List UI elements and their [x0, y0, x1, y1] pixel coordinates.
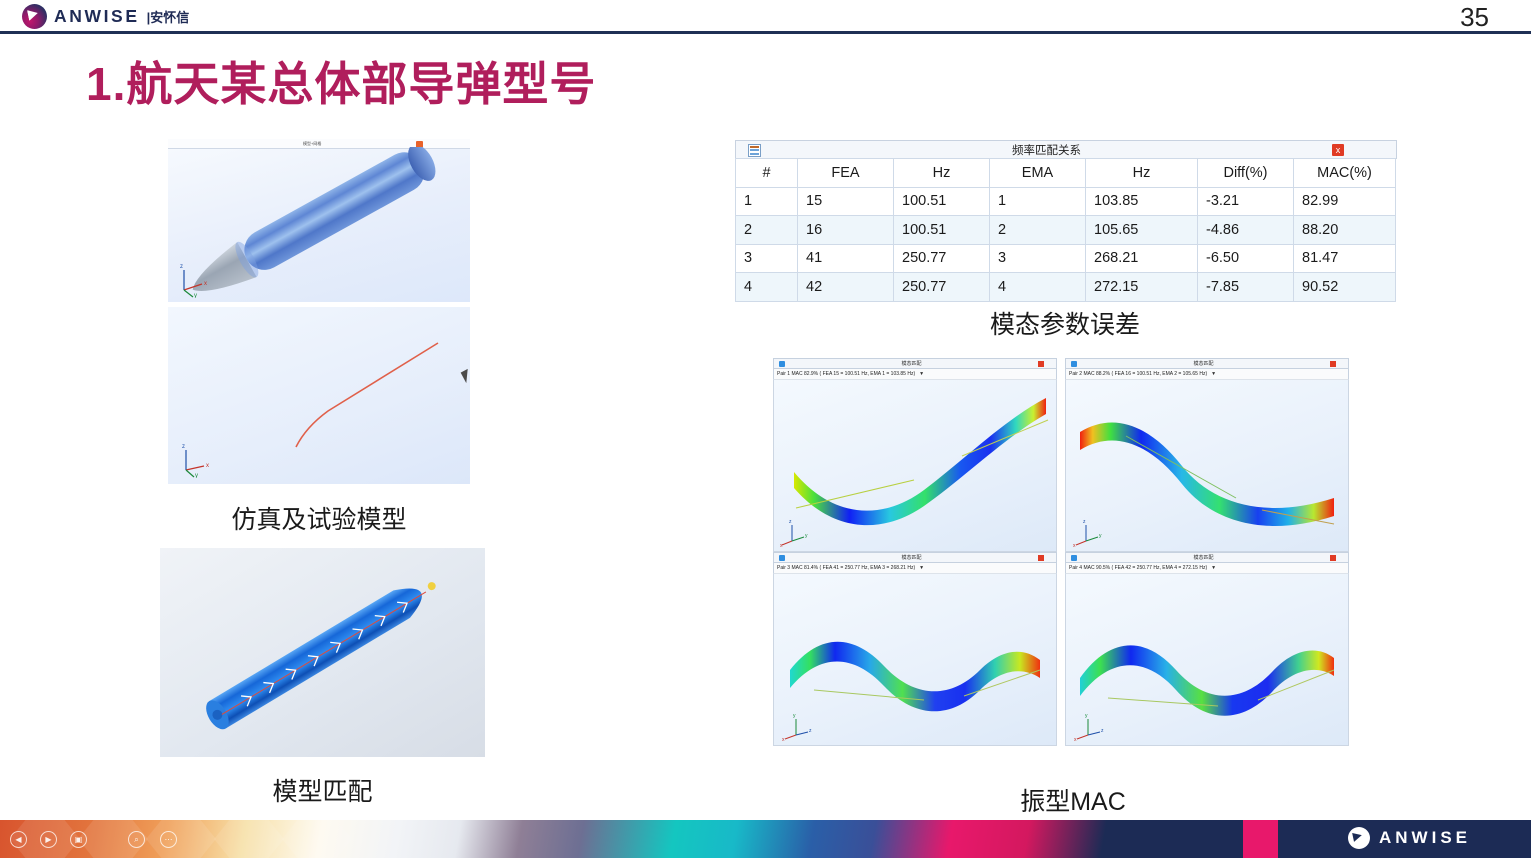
cell-ema: 2: [990, 216, 1086, 245]
mac-pair-selector-3[interactable]: Pair 3 MAC 81.4% ( FEA 41 = 250.77 Hz, E…: [773, 563, 1057, 574]
header-divider: [0, 31, 1531, 34]
table-window-titlebar: 频率匹配关系 x: [735, 140, 1397, 159]
cell-ema-hz: 268.21: [1086, 244, 1198, 273]
col-header-ema-hz: Hz: [1086, 159, 1198, 188]
cell-fea-hz: 100.51: [894, 216, 990, 245]
svg-text:x: x: [204, 281, 207, 287]
axis-triad-icon: z x y: [176, 438, 228, 478]
prev-slide-button[interactable]: ◀: [10, 831, 27, 848]
table-row[interactable]: 3 41 250.77 3 268.21 -6.50 81.47: [736, 244, 1396, 273]
chevron-down-icon: ▼: [919, 371, 924, 377]
col-header-diff: Diff(%): [1198, 159, 1294, 188]
cell-diff: -7.85: [1198, 273, 1294, 302]
svg-text:y: y: [793, 713, 796, 719]
col-header-index: #: [736, 159, 798, 188]
cell-index: 1: [736, 187, 798, 216]
svg-text:y: y: [194, 293, 197, 298]
mac-pair-label: Pair 1 MAC 82.9% ( FEA 15 = 100.51 Hz, E…: [777, 371, 915, 377]
mac-window-3: 模态匹配 Pair 3 MAC 81.4% ( FEA 41 = 250.77 …: [773, 552, 1057, 746]
footer-bar: ◀ ▶ ▣ ⌕ ⋯ ANWISE: [0, 820, 1531, 858]
chevron-down-icon: ▼: [1211, 565, 1216, 571]
mac-pair-selector-4[interactable]: Pair 4 MAC 90.5% ( FEA 42 = 250.77 Hz, E…: [1065, 563, 1349, 574]
spreadsheet-icon: [748, 144, 761, 157]
table-row[interactable]: 1 15 100.51 1 103.85 -3.21 82.99: [736, 187, 1396, 216]
axis-triad-icon: y x z: [1074, 707, 1122, 741]
cell-fea-hz: 250.77: [894, 273, 990, 302]
mac-window-titlebar-3: 模态匹配: [773, 552, 1057, 563]
svg-text:x: x: [1074, 737, 1077, 741]
mac-window-2: 模态匹配 Pair 2 MAC 88.2% ( FEA 16 = 100.51 …: [1065, 358, 1349, 552]
footer-brand-logo: ANWISE: [1348, 827, 1471, 849]
mode-shape-canvas-3: y x z: [773, 574, 1057, 746]
frequency-match-window: 频率匹配关系 x # FEA Hz EMA Hz Diff(%) MAC(%) …: [735, 140, 1395, 296]
mac-pair-label: Pair 3 MAC 81.4% ( FEA 41 = 250.77 Hz, E…: [777, 565, 915, 571]
cell-ema: 4: [990, 273, 1086, 302]
close-icon[interactable]: [1330, 361, 1336, 367]
close-icon[interactable]: [1038, 555, 1044, 561]
cell-fea-hz: 100.51: [894, 187, 990, 216]
cell-fea-hz: 250.77: [894, 244, 990, 273]
col-header-ema: EMA: [990, 159, 1086, 188]
cell-index: 2: [736, 216, 798, 245]
brand-name-cn: |安怀信: [147, 7, 190, 26]
chevron-down-icon: ▼: [919, 565, 924, 571]
cell-index: 3: [736, 244, 798, 273]
cell-mac: 90.52: [1294, 273, 1396, 302]
page-title: 1.航天某总体部导弹型号: [86, 59, 596, 110]
svg-text:y: y: [805, 533, 808, 539]
axis-triad-icon: z x y: [780, 513, 828, 547]
brand-name: ANWISE: [54, 8, 140, 26]
mac-window-4: 模态匹配 Pair 4 MAC 90.5% ( FEA 42 = 250.77 …: [1065, 552, 1349, 746]
mac-pair-selector-2[interactable]: Pair 2 MAC 88.2% ( FEA 16 = 100.51 Hz, E…: [1065, 369, 1349, 380]
cell-ema-hz: 272.15: [1086, 273, 1198, 302]
svg-text:y: y: [1099, 533, 1102, 539]
table-header-row: # FEA Hz EMA Hz Diff(%) MAC(%): [736, 159, 1396, 188]
col-header-mac: MAC(%): [1294, 159, 1396, 188]
more-options-button[interactable]: ⋯: [160, 831, 177, 848]
svg-text:z: z: [182, 444, 185, 450]
cell-ema-hz: 103.85: [1086, 187, 1198, 216]
cell-fea: 16: [798, 216, 894, 245]
svg-text:z: z: [809, 728, 812, 734]
cell-diff: -6.50: [1198, 244, 1294, 273]
next-slide-button[interactable]: ▶: [40, 831, 57, 848]
mac-pair-label: Pair 2 MAC 88.2% ( FEA 16 = 100.51 Hz, E…: [1069, 371, 1207, 377]
cell-diff: -3.21: [1198, 187, 1294, 216]
mac-window-title: 模态匹配: [785, 360, 1038, 367]
close-icon[interactable]: [1038, 361, 1044, 367]
caption-sim-test-model: 仿真及试验模型: [168, 500, 470, 536]
footer-brand-name: ANWISE: [1379, 828, 1471, 848]
cell-ema: 3: [990, 244, 1086, 273]
caption-modal-param-error: 模态参数误差: [735, 305, 1395, 341]
mac-window-titlebar-2: 模态匹配: [1065, 358, 1349, 369]
page-number: 35: [1460, 2, 1489, 33]
svg-text:x: x: [1073, 543, 1076, 547]
cell-mac: 81.47: [1294, 244, 1396, 273]
mac-window-title: 模态匹配: [1077, 554, 1330, 561]
svg-text:x: x: [782, 737, 785, 741]
cell-index: 4: [736, 273, 798, 302]
mode-shape-canvas-1: z x y: [773, 380, 1057, 552]
mac-window-title: 模态匹配: [1077, 360, 1330, 367]
col-header-fea-hz: Hz: [894, 159, 990, 188]
cell-fea: 42: [798, 273, 894, 302]
caption-mode-shape-mac: 振型MAC: [773, 782, 1373, 818]
anwise-logo-icon: [1348, 827, 1370, 849]
close-icon[interactable]: [1330, 555, 1336, 561]
cell-mac: 88.20: [1294, 216, 1396, 245]
svg-text:z: z: [789, 519, 792, 525]
model-match-viewport: [160, 548, 485, 757]
mac-pair-label: Pair 4 MAC 90.5% ( FEA 42 = 250.77 Hz, E…: [1069, 565, 1207, 571]
axis-triad-icon: z x y: [174, 258, 226, 298]
table-row[interactable]: 2 16 100.51 2 105.65 -4.86 88.20: [736, 216, 1396, 245]
cell-fea: 41: [798, 244, 894, 273]
table-row[interactable]: 4 42 250.77 4 272.15 -7.85 90.52: [736, 273, 1396, 302]
axis-triad-icon: y x z: [782, 707, 830, 741]
svg-text:z: z: [180, 264, 183, 270]
frequency-match-table: # FEA Hz EMA Hz Diff(%) MAC(%) 1 15 100.…: [735, 158, 1396, 302]
mode-shape-mac-grid: 模态匹配 Pair 1 MAC 82.9% ( FEA 15 = 100.51 …: [773, 358, 1373, 761]
svg-text:z: z: [1083, 519, 1086, 525]
svg-text:y: y: [195, 473, 198, 478]
mac-window-1: 模态匹配 Pair 1 MAC 82.9% ( FEA 15 = 100.51 …: [773, 358, 1057, 552]
chevron-down-icon: ▼: [1211, 371, 1216, 377]
cell-ema: 1: [990, 187, 1086, 216]
col-header-fea: FEA: [798, 159, 894, 188]
svg-text:y: y: [1085, 713, 1088, 719]
mac-window-titlebar-1: 模态匹配: [773, 358, 1057, 369]
cad-model-viewport: 模型+网格: [168, 139, 470, 302]
search-icon[interactable]: ⌕: [128, 831, 145, 848]
mac-window-title: 模态匹配: [785, 554, 1038, 561]
svg-text:x: x: [206, 463, 209, 469]
brand-logo: ANWISE |安怀信: [22, 4, 189, 29]
mode-shape-canvas-4: y x z: [1065, 574, 1349, 746]
mode-shape-canvas-2: z x y: [1065, 380, 1349, 552]
wireframe-model-viewport: z x y: [168, 307, 470, 484]
caption-model-match: 模型匹配: [160, 772, 485, 808]
missile-match-render: [160, 548, 485, 757]
axis-triad-icon: z x y: [1072, 513, 1120, 547]
cell-mac: 82.99: [1294, 187, 1396, 216]
top-bar: ANWISE |安怀信 35: [0, 0, 1531, 33]
close-icon[interactable]: x: [1332, 144, 1344, 156]
anwise-logo-icon: [22, 4, 47, 29]
cell-ema-hz: 105.65: [1086, 216, 1198, 245]
grid-view-button[interactable]: ▣: [70, 831, 87, 848]
svg-text:z: z: [1101, 728, 1104, 734]
mac-pair-selector-1[interactable]: Pair 1 MAC 82.9% ( FEA 15 = 100.51 Hz, E…: [773, 369, 1057, 380]
mac-window-titlebar-4: 模态匹配: [1065, 552, 1349, 563]
cell-diff: -4.86: [1198, 216, 1294, 245]
table-window-title: 频率匹配关系: [761, 142, 1332, 158]
cell-fea: 15: [798, 187, 894, 216]
